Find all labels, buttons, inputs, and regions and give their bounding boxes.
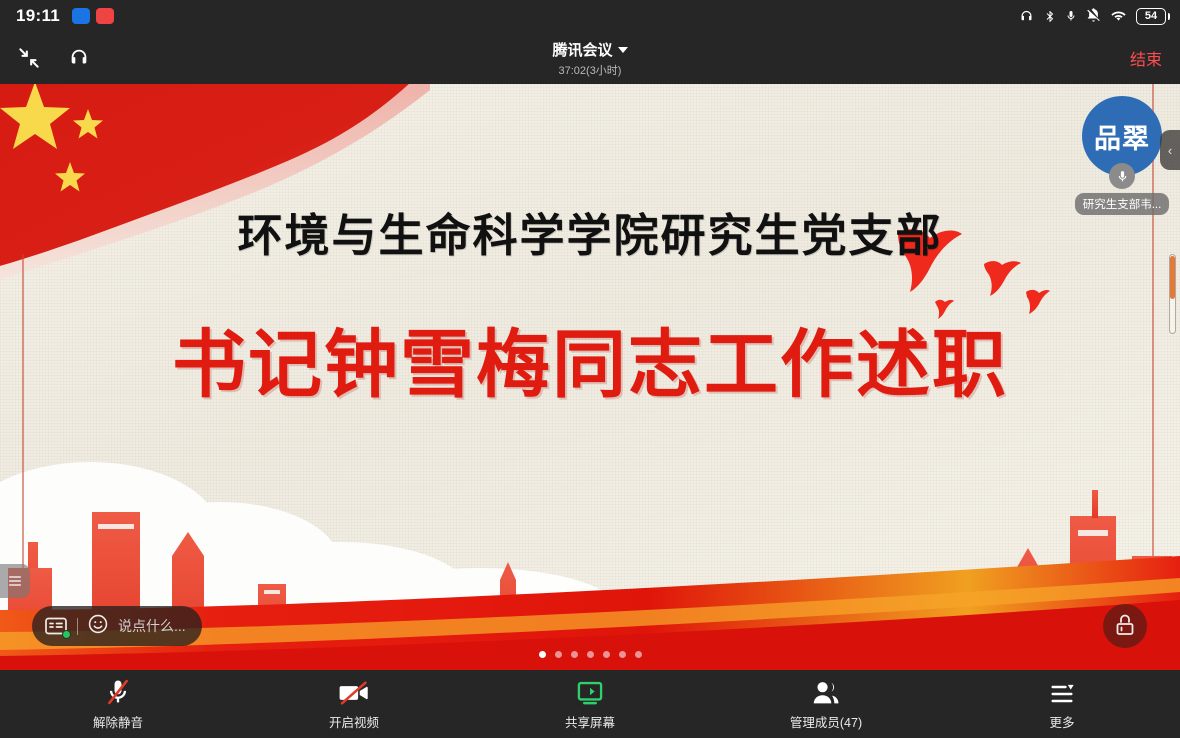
closed-caption-icon[interactable] [44, 616, 68, 636]
page-dot[interactable] [539, 651, 546, 658]
battery-indicator: 54 [1136, 8, 1170, 25]
page-dot[interactable] [635, 651, 642, 658]
meeting-title-label: 腾讯会议 [552, 39, 612, 60]
meeting-header: 腾讯会议 37:02(3小时) 结束 [0, 32, 1180, 84]
microphone-icon [1109, 163, 1135, 189]
status-bar-system-icons: 54 [1018, 8, 1170, 25]
bluetooth-icon [1044, 8, 1056, 24]
chevron-left-icon[interactable]: ‹ [1160, 130, 1180, 170]
page-dot[interactable] [603, 651, 610, 658]
minimize-arrows-icon[interactable] [12, 41, 46, 75]
participants-icon [811, 677, 841, 707]
screen-lock-button[interactable] [1103, 604, 1147, 648]
chat-divider [77, 618, 78, 635]
shared-screen-stage[interactable]: 环境与生命科学学院研究生党支部 书记钟雪梅同志工作述职 [0, 84, 1180, 670]
more-button[interactable]: 更多 [944, 677, 1180, 731]
chat-input-bar[interactable]: 说点什么... [32, 606, 202, 646]
audio-output-button[interactable] [62, 41, 96, 75]
start-video-label: 开启视频 [329, 712, 379, 731]
wifi-icon [1110, 9, 1127, 24]
page-dot[interactable] [587, 651, 594, 658]
meeting-duration-label: 37:02(3小时) [559, 62, 622, 78]
alarm-app-icon [96, 8, 114, 24]
self-video-tile[interactable]: 品翠 研究生支部韦... [1078, 96, 1166, 215]
microphone-muted-icon [104, 677, 132, 707]
screen-lock-icon [1113, 613, 1137, 639]
start-video-button[interactable]: 开启视频 [236, 677, 472, 731]
share-screen-button[interactable]: 共享屏幕 [472, 677, 708, 731]
status-bar: 19:11 54 [0, 0, 1180, 32]
status-bar-clock: 19:11 [16, 6, 60, 26]
smiley-icon[interactable] [87, 613, 109, 640]
unmute-label: 解除静音 [93, 712, 143, 731]
manage-participants-button[interactable]: 管理成员(47) [708, 677, 944, 731]
page-dot[interactable] [619, 651, 626, 658]
meeting-app-window: 19:11 54 腾讯会议 [0, 0, 1180, 738]
status-bar-notification-icons [72, 8, 114, 24]
manage-participants-label: 管理成员(47) [790, 712, 862, 731]
bell-off-icon [1086, 8, 1101, 24]
unmute-button[interactable]: 解除静音 [0, 677, 236, 731]
share-screen-label: 共享屏幕 [565, 712, 615, 731]
more-menu-icon [1048, 677, 1076, 707]
headphones-icon [67, 47, 91, 69]
end-meeting-button[interactable]: 结束 [1130, 46, 1162, 70]
list-icon[interactable] [0, 564, 30, 598]
slide-page-dots[interactable] [0, 651, 1180, 658]
meeting-title-block: 腾讯会议 37:02(3小时) [0, 32, 1180, 84]
slide-headline: 书记钟雪梅同志工作述职 [0, 328, 1180, 402]
meeting-title-button[interactable]: 腾讯会议 [552, 39, 627, 60]
slide-subtitle: 环境与生命科学学院研究生党支部 [0, 199, 1180, 264]
page-dot[interactable] [571, 651, 578, 658]
battery-level-label: 54 [1136, 8, 1166, 25]
microphone-icon [1065, 8, 1077, 24]
chevron-down-icon [618, 47, 628, 53]
page-dot[interactable] [555, 651, 562, 658]
vertical-scrollbar[interactable] [1169, 254, 1176, 334]
presentation-slide: 环境与生命科学学院研究生党支部 书记钟雪梅同志工作述职 [0, 84, 1180, 670]
self-display-name: 研究生支部韦... [1075, 193, 1170, 215]
screen-share-icon [576, 677, 604, 707]
more-label: 更多 [1049, 712, 1074, 731]
headphones-icon [1018, 9, 1035, 24]
meeting-toolbar: 解除静音 开启视频 共享屏幕 [0, 670, 1180, 738]
video-off-icon [338, 677, 370, 707]
weather-app-icon [72, 8, 90, 24]
chat-input-placeholder[interactable]: 说点什么... [118, 616, 186, 636]
caption-enabled-dot [62, 630, 71, 639]
